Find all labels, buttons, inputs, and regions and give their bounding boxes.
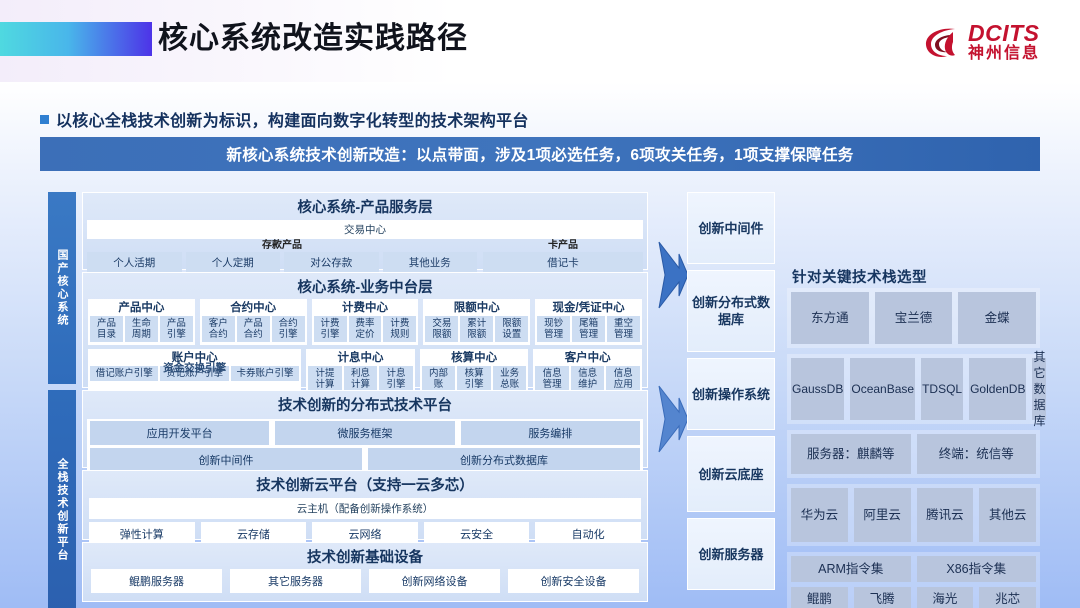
center-card-customer[interactable]: 客户中心 信息管理 信息维护 信息应用 xyxy=(533,349,642,395)
center-sub-item[interactable]: 费率定价 xyxy=(349,316,382,342)
tech-stack-group-middleware: 东方通 宝兰德 金蝶 xyxy=(787,288,1040,348)
tech-stack-group-database: GaussDB OceanBase TDSQL GoldenDB 其它数据库 xyxy=(787,354,1040,424)
center-card-interest[interactable]: 计息中心 计提计算 利息计算 计息引擎 xyxy=(306,349,415,395)
center-sub-item[interactable]: 计费规则 xyxy=(383,316,416,342)
dcits-logo-mark-icon xyxy=(922,24,962,62)
deposit-item[interactable]: 个人活期 xyxy=(87,252,182,273)
center-card-title: 合约中心 xyxy=(202,301,305,316)
center-card-title: 客户中心 xyxy=(535,351,640,366)
right-panel-title: 针对关键技术栈选型 xyxy=(792,266,927,287)
center-card-billing[interactable]: 计费中心 计费引擎 费率定价 计费规则 xyxy=(312,299,419,345)
business-center-row-2: 账户中心 借记账户引擎 贷记账户引擎 卡券账户引擎 资金交换引擎 计息中心 计提… xyxy=(88,349,642,395)
center-sub-item[interactable]: 利息计算 xyxy=(344,366,378,392)
bullet-heading-text: 以核心全栈技术创新为标识，构建面向数字化转型的技术架构平台 xyxy=(56,107,529,131)
center-card-title: 产品中心 xyxy=(90,301,193,316)
center-sub-item[interactable]: 信息维护 xyxy=(571,366,605,392)
os-option[interactable]: 服务器：麒麟等 xyxy=(791,434,911,474)
slide-body: 以核心全栈技术创新为标识，构建面向数字化转型的技术架构平台 新核心系统技术创新改… xyxy=(0,82,1080,608)
middleware-option[interactable]: 东方通 xyxy=(791,292,869,344)
center-sub-item[interactable]: 业务总账 xyxy=(493,366,527,392)
card-item[interactable]: 借记卡 xyxy=(483,252,643,273)
center-sub-item[interactable]: 现钞管理 xyxy=(537,316,570,342)
flow-arrow-lower-icon xyxy=(655,382,691,456)
center-card-title: 计息中心 xyxy=(308,351,413,366)
tech-stack-panel: 东方通 宝兰德 金蝶 GaussDB OceanBase TDSQL Golde… xyxy=(787,288,1040,608)
infrastructure-item[interactable]: 其它服务器 xyxy=(230,569,361,593)
center-sub-item[interactable]: 卡券账户引擎 xyxy=(231,366,299,381)
center-sub-item[interactable]: 信息应用 xyxy=(606,366,640,392)
chip-option[interactable]: 海光 xyxy=(917,587,974,608)
center-card-account[interactable]: 账户中心 借记账户引擎 贷记账户引擎 卡券账户引擎 资金交换引擎 xyxy=(88,349,301,395)
header-accent-bar xyxy=(0,22,152,56)
center-card-title: 核算中心 xyxy=(422,351,527,366)
middleware-option[interactable]: 宝兰德 xyxy=(875,292,953,344)
isa-label[interactable]: X86指令集 xyxy=(917,556,1037,582)
center-card-limit[interactable]: 限额中心 交易限额 累计限额 限额设置 xyxy=(423,299,530,345)
business-center-row-1: 产品中心 产品目录 生命周期 产品引擎 合约中心 客户合约 产品合约 合约引擎 xyxy=(88,299,642,345)
tech-stack-group-cloud: 华为云 阿里云 腾讯云 其他云 xyxy=(787,484,1040,546)
center-sub-item[interactable]: 交易限额 xyxy=(425,316,458,342)
cloud-option[interactable]: 腾讯云 xyxy=(917,488,974,542)
infrastructure-item[interactable]: 创新网络设备 xyxy=(369,569,500,593)
layer-distributed-platform: 技术创新的分布式技术平台 应用开发平台 微服务框架 服务编排 创新中间件 创新分… xyxy=(82,390,648,468)
side-tab-core-system: 国产核心系统 xyxy=(48,192,76,384)
deposit-item[interactable]: 其他业务 xyxy=(383,252,478,273)
center-sub-item[interactable]: 生命周期 xyxy=(125,316,158,342)
distributed-row-2: 创新中间件 创新分布式数据库 xyxy=(90,448,640,472)
center-card-title: 现金/凭证中心 xyxy=(537,301,640,316)
slide-root: 核心系统改造实践路径 DCITS 神州信息 以核心全栈技术创新为标识，构建面向数… xyxy=(0,0,1080,608)
middleware-option[interactable]: 金蝶 xyxy=(958,292,1036,344)
layer-business-middle-title: 核心系统-业务中台层 xyxy=(83,273,647,299)
innovation-item-server[interactable]: 创新服务器 xyxy=(687,518,775,590)
layer-infrastructure: 技术创新基础设备 鲲鹏服务器 其它服务器 创新网络设备 创新安全设备 xyxy=(82,542,648,602)
center-sub-item[interactable]: 产品引擎 xyxy=(160,316,193,342)
deposit-group-title: 存款产品 xyxy=(87,240,477,252)
database-option[interactable]: 其它数据库 xyxy=(1032,358,1046,420)
innovation-item-cloud-base[interactable]: 创新云底座 xyxy=(687,436,775,512)
layer-cloud-platform: 技术创新云平台（支持一云多芯） 云主机（配备创新操作系统） 弹性计算 云存储 云… xyxy=(82,470,648,540)
deposit-product-group: 存款产品 个人活期 个人定期 对公存款 其他业务 xyxy=(87,240,477,273)
card-group-title: 卡产品 xyxy=(483,240,643,252)
card-items-row: 借记卡 xyxy=(483,252,643,273)
center-card-product[interactable]: 产品中心 产品目录 生命周期 产品引擎 xyxy=(88,299,195,345)
cloud-option[interactable]: 其他云 xyxy=(979,488,1036,542)
center-card-title: 限额中心 xyxy=(425,301,528,316)
innovation-item-os[interactable]: 创新操作系统 xyxy=(687,358,775,430)
center-sub-item[interactable]: 内部账 xyxy=(422,366,456,392)
architecture-panel: 国产核心系统 全栈技术创新平台 核心系统-产品服务层 交易中心 存款产品 个人活… xyxy=(48,192,648,608)
layer-distributed-platform-title: 技术创新的分布式技术平台 xyxy=(83,391,647,417)
distributed-item[interactable]: 创新分布式数据库 xyxy=(368,448,640,472)
layer-business-middle: 核心系统-业务中台层 产品中心 产品目录 生命周期 产品引擎 合约中心 客户 xyxy=(82,272,648,388)
center-sub-item[interactable]: 借记账户引擎 xyxy=(90,366,158,381)
database-option[interactable]: OceanBase xyxy=(850,358,915,420)
isa-label[interactable]: ARM指令集 xyxy=(791,556,911,582)
center-sub-item[interactable]: 累计限额 xyxy=(460,316,493,342)
chip-option[interactable]: 飞腾 xyxy=(854,587,911,608)
highlight-banner-text: 新核心系统技术创新改造：以点带面，涉及1项必选任务，6项攻关任务，1项支撑保障任… xyxy=(226,143,853,165)
distributed-item[interactable]: 应用开发平台 xyxy=(90,421,269,445)
center-sub-item[interactable]: 限额设置 xyxy=(495,316,528,342)
infrastructure-item[interactable]: 鲲鹏服务器 xyxy=(91,569,222,593)
highlight-banner: 新核心系统技术创新改造：以点带面，涉及1项必选任务，6项攻关任务，1项支撑保障任… xyxy=(40,137,1040,171)
flow-arrow-upper-icon xyxy=(655,238,691,312)
layer-product-service-title: 核心系统-产品服务层 xyxy=(83,193,647,219)
center-card-contract[interactable]: 合约中心 客户合约 产品合约 合约引擎 xyxy=(200,299,307,345)
dcits-logo: DCITS 神州信息 xyxy=(922,22,1040,63)
distributed-item[interactable]: 创新中间件 xyxy=(90,448,362,472)
tech-stack-group-isa: ARM指令集 鲲鹏 飞腾 X86指令集 海光 兆芯 xyxy=(787,552,1040,608)
bullet-square-icon xyxy=(40,115,49,124)
center-sub-item[interactable]: 信息管理 xyxy=(535,366,569,392)
innovation-item-database[interactable]: 创新分布式数据库 xyxy=(687,270,775,352)
center-sub-item[interactable]: 产品目录 xyxy=(90,316,123,342)
layer-infrastructure-title: 技术创新基础设备 xyxy=(83,543,647,569)
distributed-item[interactable]: 服务编排 xyxy=(461,421,640,445)
logo-en-text: DCITS xyxy=(968,22,1040,45)
distributed-item[interactable]: 微服务框架 xyxy=(275,421,454,445)
database-option[interactable]: GoldenDB xyxy=(969,358,1026,420)
infrastructure-item[interactable]: 创新安全设备 xyxy=(508,569,639,593)
cloud-option[interactable]: 阿里云 xyxy=(854,488,911,542)
center-sub-item[interactable]: 计息引擎 xyxy=(379,366,413,392)
center-sub-item[interactable]: 重空管理 xyxy=(607,316,640,342)
fund-exchange-engine-overlay: 资金交换引擎 xyxy=(163,360,226,375)
layer-cloud-platform-title: 技术创新云平台（支持一云多芯） xyxy=(83,471,647,497)
center-sub-item[interactable]: 产品合约 xyxy=(237,316,270,342)
innovation-category-column: 创新中间件 创新分布式数据库 创新操作系统 创新云底座 创新服务器 xyxy=(687,192,775,596)
layer-product-service: 核心系统-产品服务层 交易中心 存款产品 个人活期 个人定期 对公存款 其他业务… xyxy=(82,192,648,270)
innovation-item-middleware[interactable]: 创新中间件 xyxy=(687,192,775,264)
chip-option[interactable]: 鲲鹏 xyxy=(791,587,848,608)
center-card-title: 计费中心 xyxy=(314,301,417,316)
cloud-option[interactable]: 华为云 xyxy=(791,488,848,542)
deposit-items-row: 个人活期 个人定期 对公存款 其他业务 xyxy=(87,252,477,273)
center-sub-item[interactable]: 核算引擎 xyxy=(457,366,491,392)
database-option[interactable]: GaussDB xyxy=(791,358,844,420)
center-sub-item[interactable]: 计费引擎 xyxy=(314,316,347,342)
distributed-row-1: 应用开发平台 微服务框架 服务编排 xyxy=(90,421,640,445)
logo-cn-text: 神州信息 xyxy=(968,45,1040,63)
isa-group-x86: X86指令集 海光 兆芯 xyxy=(917,556,1037,608)
slide-header: 核心系统改造实践路径 DCITS 神州信息 xyxy=(0,0,1080,82)
deposit-item[interactable]: 个人定期 xyxy=(186,252,281,273)
center-card-cash-voucher[interactable]: 现金/凭证中心 现钞管理 尾箱管理 重空管理 xyxy=(535,299,642,345)
trade-center-label: 交易中心 xyxy=(87,220,643,239)
page-title: 核心系统改造实践路径 xyxy=(158,20,468,58)
center-sub-item[interactable]: 客户合约 xyxy=(202,316,235,342)
center-sub-item[interactable]: 计提计算 xyxy=(308,366,342,392)
database-option[interactable]: TDSQL xyxy=(921,358,963,420)
os-option[interactable]: 终端：统信等 xyxy=(917,434,1037,474)
center-sub-item[interactable]: 尾箱管理 xyxy=(572,316,605,342)
infrastructure-items-row: 鲲鹏服务器 其它服务器 创新网络设备 创新安全设备 xyxy=(91,569,639,593)
chip-option[interactable]: 兆芯 xyxy=(979,587,1036,608)
distributed-items-box: 应用开发平台 微服务框架 服务编排 创新中间件 创新分布式数据库 xyxy=(87,419,643,474)
isa-group-arm: ARM指令集 鲲鹏 飞腾 xyxy=(791,556,911,608)
tech-stack-group-os: 服务器：麒麟等 终端：统信等 xyxy=(787,430,1040,478)
side-tab-fullstack-platform: 全栈技术创新平台 xyxy=(48,390,76,608)
center-sub-item[interactable]: 合约引擎 xyxy=(272,316,305,342)
bullet-heading: 以核心全栈技术创新为标识，构建面向数字化转型的技术架构平台 xyxy=(40,107,529,131)
cloud-host-label: 云主机（配备创新操作系统） xyxy=(89,498,641,519)
deposit-item[interactable]: 对公存款 xyxy=(284,252,379,273)
card-product-group: 卡产品 借记卡 xyxy=(483,240,643,273)
center-card-accounting[interactable]: 核算中心 内部账 核算引擎 业务总账 xyxy=(420,349,529,395)
dcits-logo-text: DCITS 神州信息 xyxy=(968,22,1040,63)
